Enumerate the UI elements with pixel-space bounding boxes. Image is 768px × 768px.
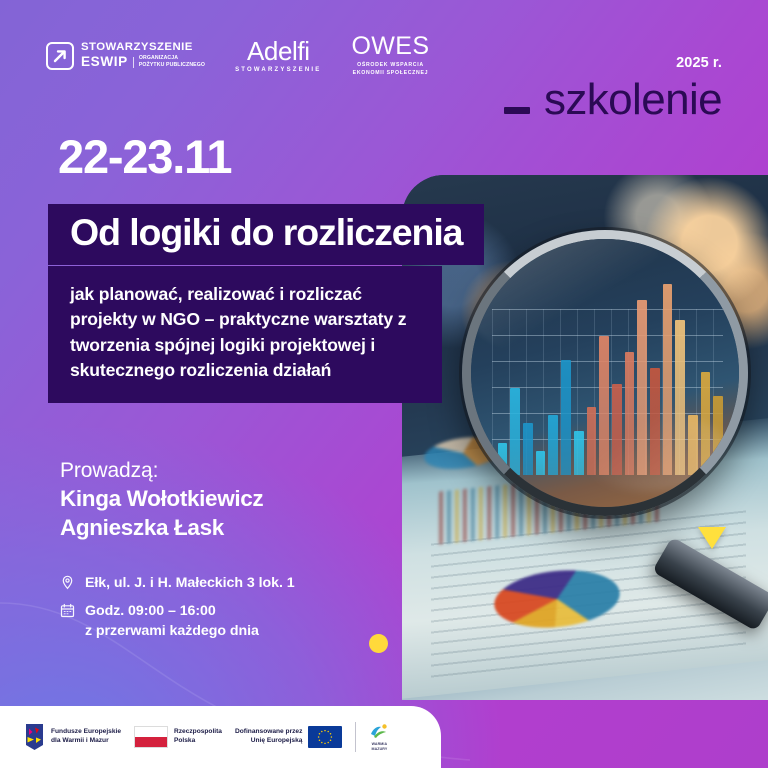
- logo-unia-europejska: Dofinansowane przez Unię Europejską: [235, 726, 342, 748]
- fe-line2: dla Warmii i Mazur: [51, 737, 121, 746]
- fundusze-europejskie-icon: [24, 724, 45, 750]
- kicker-szkolenie: szkolenie: [504, 78, 722, 122]
- map-pin-icon: [60, 575, 75, 590]
- lens-chart-bar: [548, 415, 558, 474]
- hosts-block: Prowadzą: Kinga Wołotkiewicz Agnieszka Ł…: [60, 458, 263, 542]
- year-label: 2025 r.: [676, 55, 722, 71]
- lens-glare-secondary: [578, 411, 728, 491]
- host-name-2: Agnieszka Łask: [60, 513, 263, 542]
- page-subtitle: jak planować, realizować i rozliczać pro…: [70, 282, 420, 383]
- logo-owes: OWES OŚRODEK WSPARCIA EKONOMII SPOŁECZNE…: [351, 34, 429, 77]
- adelfi-subtitle: STOWARZYSZENIE: [235, 67, 321, 73]
- yellow-triangle-accent: [698, 527, 726, 549]
- lens-chart-bar: [510, 388, 520, 475]
- title-band: Od logiki do rozliczenia: [48, 204, 484, 265]
- eswip-line1: STOWARZYSZENIE: [81, 42, 205, 54]
- eswip-line2: ESWIP: [81, 55, 128, 69]
- time-note-text: z przerwami każdego dnia: [85, 621, 259, 641]
- pl-line1: Rzeczpospolita: [174, 728, 222, 737]
- hosts-label: Prowadzą:: [60, 458, 263, 484]
- partner-logos: STOWARZYSZENIE ESWIP ORGANIZACJA POŻYTKU…: [46, 34, 429, 77]
- owes-sub1: OŚRODEK WSPARCIA: [353, 62, 429, 70]
- eswip-arrow-icon: [46, 42, 74, 70]
- logo-fundusze-europejskie: Fundusze Europejskie dla Warmii i Mazur: [24, 724, 121, 750]
- page-title: Od logiki do rozliczenia: [70, 213, 462, 253]
- logo-rzeczpospolita-polska: Rzeczpospolita Polska: [134, 726, 222, 748]
- eswip-sub2: POŻYTKU PUBLICZNEGO: [139, 62, 205, 69]
- lens-chart-bar: [523, 423, 533, 475]
- location-row: Ełk, ul. J. i H. Małeckich 3 lok. 1: [60, 573, 295, 593]
- eswip-divider: [133, 57, 134, 68]
- time-row: Godz. 09:00 – 16:00 z przerwami każdego …: [60, 601, 295, 641]
- time-text: Godz. 09:00 – 16:00: [85, 601, 259, 621]
- funding-footer: Fundusze Europejskie dla Warmii i Mazur …: [0, 706, 441, 768]
- magnifying-glass-icon: [462, 230, 748, 516]
- owes-wordmark: OWES: [351, 34, 429, 59]
- lens-chart-bar: [536, 451, 546, 475]
- calendar-icon: [60, 603, 75, 618]
- eu-flag-icon: [308, 726, 342, 748]
- lens-chart-bar: [498, 443, 508, 475]
- event-date: 22-23.11: [58, 133, 231, 180]
- polish-flag-icon: [134, 726, 168, 748]
- eu-line1: Dofinansowane przez: [235, 728, 302, 737]
- yellow-dot-accent: [369, 634, 388, 653]
- pl-line2: Polska: [174, 737, 222, 746]
- lens-chart-bar: [561, 360, 571, 475]
- kicker-label: szkolenie: [544, 78, 722, 122]
- wm-line2: MAZURY: [371, 747, 387, 751]
- fe-line1: Fundusze Europejskie: [51, 728, 121, 737]
- logo-adelfi: Adelfi STOWARZYSZENIE: [235, 38, 321, 73]
- subtitle-band: jak planować, realizować i rozliczać pro…: [48, 266, 442, 403]
- logo-eswip: STOWARZYSZENIE ESWIP ORGANIZACJA POŻYTKU…: [46, 42, 205, 70]
- location-text: Ełk, ul. J. i H. Małeckich 3 lok. 1: [85, 573, 295, 593]
- warmia-mazury-icon: [369, 723, 389, 740]
- event-meta: Ełk, ul. J. i H. Małeckich 3 lok. 1 Godz…: [60, 573, 295, 649]
- eu-line2: Unię Europejską: [235, 737, 302, 746]
- underscore-icon: [504, 107, 530, 114]
- host-name-1: Kinga Wołotkiewicz: [60, 484, 263, 513]
- poster-canvas: STOWARZYSZENIE ESWIP ORGANIZACJA POŻYTKU…: [0, 0, 768, 768]
- owes-sub2: EKONOMII SPOŁECZNEJ: [353, 70, 429, 78]
- wm-line1: WARMIA: [371, 742, 387, 746]
- footer-divider: [355, 722, 356, 752]
- logo-warmia-mazury: WARMIA MAZURY: [369, 723, 389, 751]
- adelfi-wordmark: Adelfi: [247, 38, 310, 64]
